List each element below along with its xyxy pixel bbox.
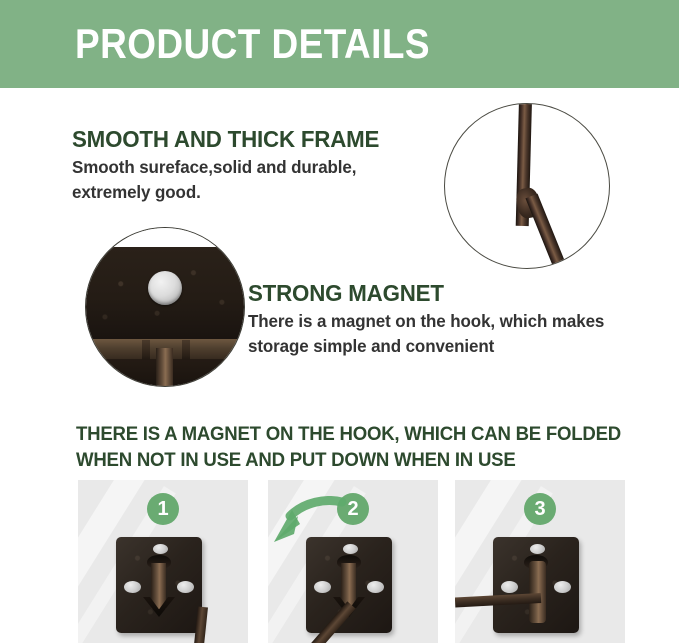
step-badge-1: 1 [147, 493, 179, 525]
magnet-dot-top [530, 544, 545, 554]
section-body-frame-line-1: Smooth sureface,solid and durable, [72, 155, 460, 180]
photo-top-margin [86, 228, 244, 248]
section-body-frame-line-2: extremely good. [72, 180, 460, 205]
step-panel-3: 3 [455, 480, 625, 643]
screw-dot-right [177, 581, 194, 593]
step-panel-2: 2 [268, 480, 438, 643]
screw-dot-left [314, 581, 331, 593]
rod-lower-segment [525, 194, 575, 269]
magnet-closeup-photo [85, 227, 245, 387]
magnet-dot-top [153, 544, 168, 554]
mounting-plate [306, 537, 392, 633]
section-title-frame: SMOOTH AND THICK FRAME [72, 126, 379, 153]
section-body-magnet-line-2: storage simple and convenient [248, 334, 636, 359]
screw-dot-right [367, 581, 384, 593]
fold-instruction-heading: THERE IS A MAGNET ON THE HOOK, WHICH CAN… [76, 422, 625, 474]
mounting-plate [116, 537, 202, 633]
magnet-disc [148, 271, 182, 305]
step-panel-1: 1 [78, 480, 248, 643]
page-header-banner: PRODUCT DETAILS [0, 0, 679, 88]
mounting-plate [493, 537, 579, 633]
magnet-dot-top [343, 544, 358, 554]
screw-dot-right [554, 581, 571, 593]
screw-dot-left [124, 581, 141, 593]
frame-closeup-photo [444, 103, 610, 269]
step-badge-3: 3 [524, 493, 556, 525]
hook-clip-left [142, 340, 150, 360]
section-title-magnet: STRONG MAGNET [248, 280, 444, 307]
hook-shaft [156, 348, 173, 387]
section-body-magnet-line-1: There is a magnet on the hook, which mak… [248, 309, 636, 334]
fold-heading-line-1: THERE IS A MAGNET ON THE HOOK, WHICH CAN… [76, 422, 625, 448]
screw-dot-left [501, 581, 518, 593]
hook-clip-right [182, 340, 190, 360]
hook-shaft [529, 561, 546, 623]
fold-heading-line-2: WHEN NOT IN USE AND PUT DOWN WHEN IN USE [76, 448, 625, 474]
page-title: PRODUCT DETAILS [75, 19, 430, 69]
section-body-frame: Smooth sureface,solid and durable, extre… [72, 155, 460, 205]
section-body-magnet: There is a magnet on the hook, which mak… [248, 309, 636, 359]
